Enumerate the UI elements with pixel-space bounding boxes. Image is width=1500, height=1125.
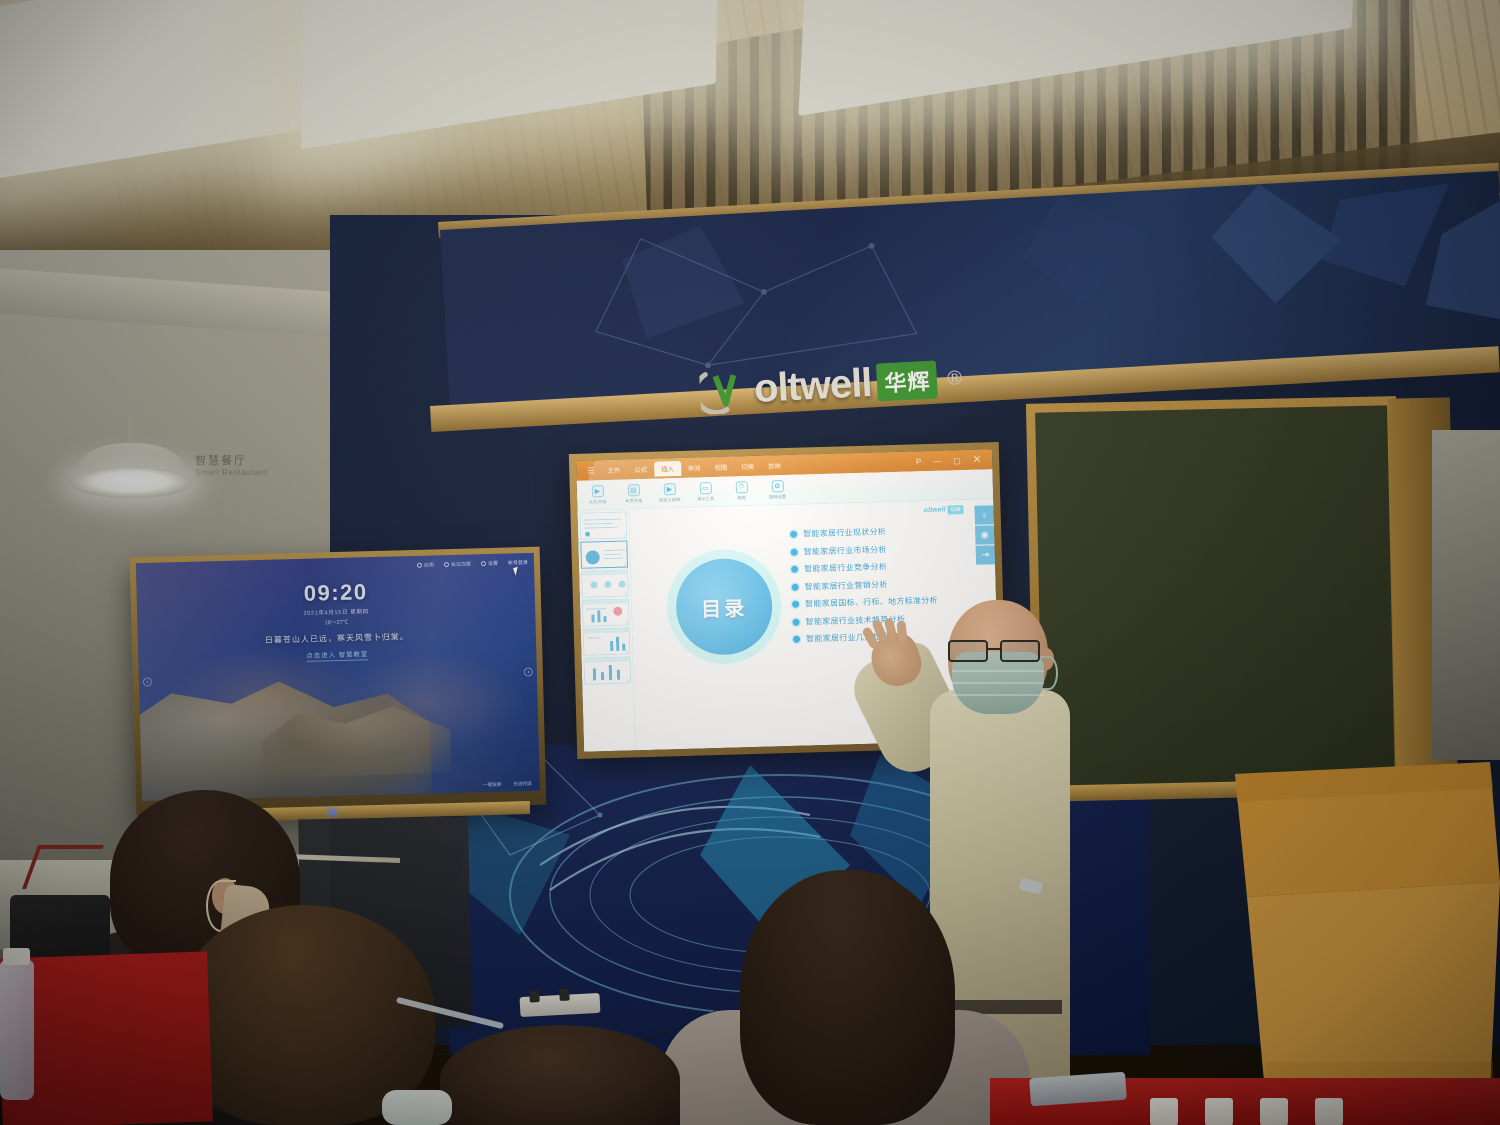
logo-v-mark [699,366,749,414]
mask-fold [952,682,1044,684]
room-sign-en: Smart Restaurant [195,469,325,478]
mask-fold [952,670,1044,672]
thumbnail-number: 5 [626,649,628,653]
thumbnail-number: 2 [624,563,626,567]
ribbon-label-rehearse: 排练 [737,495,746,501]
tab-review[interactable]: 审阅 [681,460,708,476]
paper-cup [1260,1098,1288,1125]
paper-cup [1315,1098,1343,1125]
tab-transition[interactable]: 切换 [734,458,761,474]
paper-cup [1150,1098,1178,1125]
tv-glass-reflection [136,553,540,801]
screen-icon: ▭ [699,482,711,494]
hamburger-menu-icon[interactable]: ☰ [581,466,600,476]
ribbon-button-show-settings[interactable]: ⚙ 放映设置 [764,479,792,500]
pin-icon[interactable]: ♀ [974,505,994,525]
slide-side-toolbar[interactable]: ♀ ◉ ⇥ [974,505,995,565]
toc-item[interactable]: 智能家居行业竞争分析 [791,559,969,575]
document-icon: ▤ [627,484,639,496]
rehearse-icon: ⏱ [735,481,747,493]
toc-item[interactable]: 智能家居国标、行标、地方标准分析 [792,594,970,610]
slide-thumbnail[interactable]: 5 [583,627,631,655]
toc-item[interactable]: 智能家居行业现状分析 [790,524,968,540]
presenter-eyeglasses [946,640,1050,662]
bullet-icon [791,566,798,573]
ribbon-button-rehearse[interactable]: ⏱ 排练 [728,480,756,501]
chalkboard-surface [1035,405,1395,786]
tab-view[interactable]: 视图 [707,459,734,475]
slide-watermark-logo: oltwell 华辉 [924,505,964,515]
ribbon-label-custom-show: 自定义放映 [659,496,681,503]
toc-item-label: 智能家居行业现状分析 [803,526,886,539]
ribbon-button-custom-show[interactable]: ▶ 自定义放映 [656,482,684,503]
tab-slideshow[interactable]: 放映 [761,457,788,473]
tv-screen[interactable]: 应用 会议白板 设置 帐号登录 09:20 2021年4月15日 星期四 18 [136,553,540,801]
slide-thumbnail[interactable]: 4 [582,598,630,626]
far-right-wall [1432,430,1500,760]
toc-item-label: 智能家居国标、行标、地方标准分析 [805,595,938,610]
tv-power-led [330,810,335,815]
watermark-wordmark: oltwell [924,507,946,515]
ribbon-label-present-tools: 演示工具 [697,496,714,502]
present-icon: ▶ [663,483,675,495]
thumbnail-number: 6 [627,678,629,682]
toc-item-label: 智能家居行业市场分析 [803,544,886,557]
bullet-icon [792,583,799,590]
audience-head-4 [440,1025,680,1125]
watermark-chinese: 华辉 [947,505,963,514]
toc-item-label: 智能家居行业营销分析 [804,579,887,592]
toc-circle-label: 目录 [701,592,748,622]
slide-thumbnail[interactable]: 1 [579,511,627,539]
presentation-room-photo: 智慧餐厅 Smart Restaurant 2019 [0,0,1500,1125]
logo-wordmark: oltwell [753,360,873,411]
tab-formula[interactable]: 公式 [627,461,654,477]
presenter-mode-icon[interactable]: P [910,457,928,466]
power-strip [520,993,601,1017]
audience-face-mask-4 [382,1090,452,1125]
thumbnail-number: 4 [625,620,627,624]
search-icon[interactable]: ◉ [975,525,995,545]
logo-chinese: 华辉 [876,360,938,401]
pendant-lamp-glow [70,468,192,498]
maximize-icon[interactable]: ▢ [947,455,967,465]
bullet-icon [790,531,797,538]
ribbon-button-present-tools[interactable]: ▭ 演示工具 [692,481,720,502]
bullet-icon [793,618,800,625]
plug-icon [559,988,570,1001]
toc-circle-graphic: 目录 [675,557,774,656]
ribbon-label-from-start: 从头开始 [589,499,606,505]
toc-item[interactable]: 智能家居行业市场分析 [790,541,968,557]
ribbon-button-from-current[interactable]: ▤ 本页开始 [620,483,648,504]
chalkboard [1026,396,1404,796]
ribbon-label-show-settings: 放映设置 [769,494,786,500]
thumbnail-number: 3 [625,592,627,596]
lens-right [1000,640,1040,662]
ribbon-label-from-current: 本页开始 [625,498,642,504]
plug-icon [529,990,540,1003]
toc-item[interactable]: 智能家居行业营销分析 [791,576,969,592]
slide-thumbnail[interactable]: 6 [584,656,632,684]
tab-insert[interactable]: 插入 [654,460,681,476]
secondary-smart-display[interactable]: 应用 会议白板 设置 帐号登录 09:20 2021年4月15日 星期四 18 [130,547,547,816]
bullet-icon [791,548,798,555]
room-sign-cn: 智慧餐厅 [195,455,325,467]
thumbnail-number: 1 [623,534,625,538]
audience-head-3 [740,870,955,1125]
wooden-podium [1235,762,1500,1092]
tab-file[interactable]: 文件 [600,462,627,478]
paper-cup [1205,1098,1233,1125]
titlebar-spacer [788,462,910,465]
ribbon-button-from-start[interactable]: ▶ 从头开始 [584,484,612,505]
lens-left [948,640,988,662]
play-icon: ▶ [591,485,603,497]
settings-icon: ⚙ [771,480,783,492]
slide-thumbnail[interactable]: 3 [581,569,629,597]
bullet-icon [793,636,800,643]
room-sign: 智慧餐厅 Smart Restaurant [195,455,325,478]
bullet-icon [792,601,799,608]
toc-item-label: 智能家居行业竞争分析 [804,561,887,574]
share-icon[interactable]: ⇥ [976,545,996,565]
water-bottle [0,960,34,1100]
mask-fold [952,694,1044,696]
close-icon[interactable]: ✕ [967,454,988,466]
slide-thumbnail-pane[interactable]: 1 2 [577,509,636,751]
minimize-icon[interactable]: — [927,456,947,466]
slide-thumbnail[interactable]: 2 [580,540,628,568]
registered-mark-icon: ® [947,367,963,391]
bottle-cap [3,948,30,965]
